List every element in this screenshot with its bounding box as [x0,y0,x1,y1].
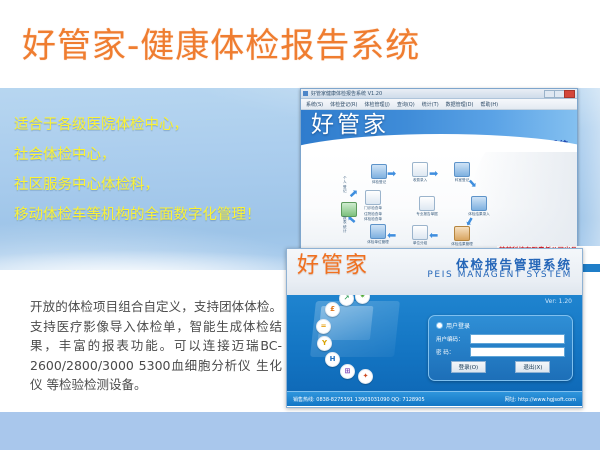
badge-icon-2: ✷ [355,295,370,304]
menu-bar: 系统(S) 体检登记(R) 体检管理(J) 查询(Q) 统计(T) 数据管理(D… [301,99,577,110]
app-banner-logo: 好管家 [311,112,389,138]
statistics-icon [341,202,357,217]
flow-node-label: 体检登记 [359,180,399,185]
flow-node-statistics [329,202,369,217]
unit-manage-icon [370,224,386,239]
app-banner: 好管家 健康体检报告系统 [301,110,577,152]
exit-button[interactable]: 退出(X) [515,361,550,373]
user-code-row: 用户编码： [436,334,565,344]
password-label: 密 码： [436,348,470,356]
description-paragraph: 开放的体检项目组合自定义，支持团体体检。支持医疗影像导入体检单，智能生成体检结果… [30,297,282,395]
login-footer: 销售热线: 0838-8275391 13903031090 QQ: 71289… [287,391,582,406]
background-gloss [576,88,600,270]
user-code-label: 用户编码： [436,335,470,343]
login-header: 好管家 体检报告管理系统 PEIS MANAGENT SYSTEM [287,249,582,295]
footer-hotline: 销售热线: 0838-8275391 13903031090 QQ: 71289… [293,396,425,403]
badge-icon-7: ⊞ [340,364,355,379]
badge-icon-5: Y [317,336,332,351]
window-titlebar: 好管家健康体检报告系统 V1.20 [301,89,577,99]
menu-item-statistics[interactable]: 统计(T) [422,101,439,108]
page-title: 好管家-健康体检报告系统 [22,26,420,66]
login-button[interactable]: 登录(O) [451,361,487,373]
login-button-row: 登录(O) 退出(X) [436,361,565,373]
bullet-line: 社会体检中心， [14,140,314,170]
flow-node-result-manage: 体检结果管理 [442,226,482,247]
badge-icon-6: H [325,352,340,367]
arrow-icon: ➡ [387,168,396,179]
login-panel-title-text: 用户登录 [446,321,470,330]
radio-icon [436,322,443,329]
flow-node-group: 单位分组 [400,225,440,246]
report-icon [419,196,435,211]
login-panel: 用户登录 用户编码： 密 码： 登录(O) 退出(X) [428,315,573,381]
footer-website[interactable]: 网址: http://www.hgjsoft.com [505,396,576,403]
window-title: 好管家健康体检报告系统 V1.20 [311,90,382,97]
result-manage-icon [454,226,470,241]
app-icon [303,91,308,96]
login-panel-title: 用户登录 [436,321,565,330]
user-code-input[interactable] [470,334,565,344]
badge-icon-4: = [316,319,331,334]
workflow-diagram: 个人登记 ➡ 体检登记 ➡ 收费录入 ➡ 科室登记 ➡ [301,152,577,250]
registration-icon [371,164,387,179]
version-label: Ver: 1.20 [545,298,572,305]
login-logo: 好管家 [297,253,369,279]
menu-item-system[interactable]: 系统(S) [306,101,323,108]
result-entry-icon [471,196,487,211]
password-row: 密 码： [436,347,565,357]
menu-item-registration[interactable]: 体检登记(R) [330,101,357,108]
flow-node-result-entry: 体检结果录入 [459,196,499,217]
department-icon [454,162,470,177]
menu-item-exam-manage[interactable]: 体检管理(J) [364,101,389,108]
flow-node-label: 体检单位管理 [358,240,398,245]
arrow-icon: ➡ [429,168,438,179]
flow-node-label: 体检结果管理 [442,242,482,247]
badge-cluster: ↗ ✷ £ = Y H ⊞ ✦ [287,295,407,391]
menu-item-query[interactable]: 查询(Q) [397,101,415,108]
badge-icon-3: £ [325,302,340,317]
flow-node-label: 单位分组 [400,241,440,246]
feature-bullet-list: 适合于各级医院体检中心， 社会体检中心， 社区服务中心体检科， 移动体检车等机构… [14,110,314,230]
group-icon [412,225,428,240]
bullet-line: 移动体检车等机构的全面数字化管理！ [14,200,314,230]
menu-item-help[interactable]: 帮助(H) [480,101,498,108]
menu-item-data-manage[interactable]: 数据管理(D) [446,101,474,108]
login-body: Ver: 1.20 ↗ ✷ £ = Y H ⊞ ✦ 用户登录 用户编码： [287,295,582,391]
background-band-bottom [0,412,600,450]
flow-node-label: 专业报告单据 [407,212,447,217]
close-button[interactable] [564,90,575,98]
main-app-window: 好管家健康体检报告系统 V1.20 系统(S) 体检登记(R) 体检管理(J) … [300,88,578,250]
login-window: 好管家 体检报告管理系统 PEIS MANAGENT SYSTEM Ver: 1… [286,248,583,408]
badge-icon-8: ✦ [358,369,373,384]
login-title-en: PEIS MANAGENT SYSTEM [427,270,572,280]
fee-entry-icon [412,162,428,177]
flow-node-report: 专业报告单据 [407,196,447,217]
bullet-line: 适合于各级医院体检中心， [14,110,314,140]
bullet-line: 社区服务中心体检科， [14,170,314,200]
flow-label-statistics: 报表统计 [343,216,349,234]
badge-icon-1: ↗ [339,295,354,306]
flow-node-unit-manage: 体检单位管理 [358,224,398,245]
poster-canvas: 好管家-健康体检报告系统 适合于各级医院体检中心， 社会体检中心， 社区服务中心… [0,0,600,450]
password-input[interactable] [470,347,565,357]
